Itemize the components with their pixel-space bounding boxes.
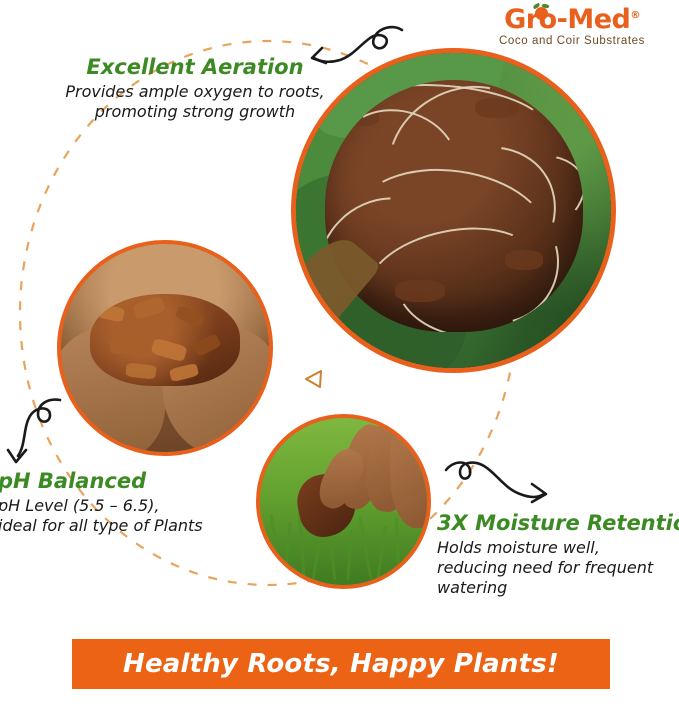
coco-chips-pile [90,294,240,386]
feature-aeration: Excellent Aeration Provides ample oxygen… [35,56,355,122]
feature-ph: pH Balanced pH Level (5.5 – 6.5), ideal … [0,470,248,536]
root-ball [325,79,583,331]
feature-moisture: 3X Moisture Retention Holds moisture wel… [437,512,679,598]
feature-aeration-heading: Excellent Aeration [35,56,355,79]
infographic-page: Gro-Med® Coco and Coir Substrates [0,0,679,707]
footer-banner: Healthy Roots, Happy Plants! [72,639,610,689]
footer-banner-text: Healthy Roots, Happy Plants! [123,649,559,679]
feature-moisture-body: Holds moisture well, reducing need for f… [437,538,679,598]
photo-hands-coco-chips [57,240,273,456]
registered-mark: ® [630,10,640,21]
feature-ph-heading: pH Balanced [0,470,248,493]
photo-moisture-clump [256,414,431,589]
triangle-marker-icon [303,368,325,395]
feature-ph-body: pH Level (5.5 – 6.5), ideal for all type… [0,496,248,536]
feature-aeration-body: Provides ample oxygen to roots, promotin… [35,82,355,122]
feature-moisture-heading: 3X Moisture Retention [437,512,679,535]
curved-arrow-left-icon [4,396,68,479]
